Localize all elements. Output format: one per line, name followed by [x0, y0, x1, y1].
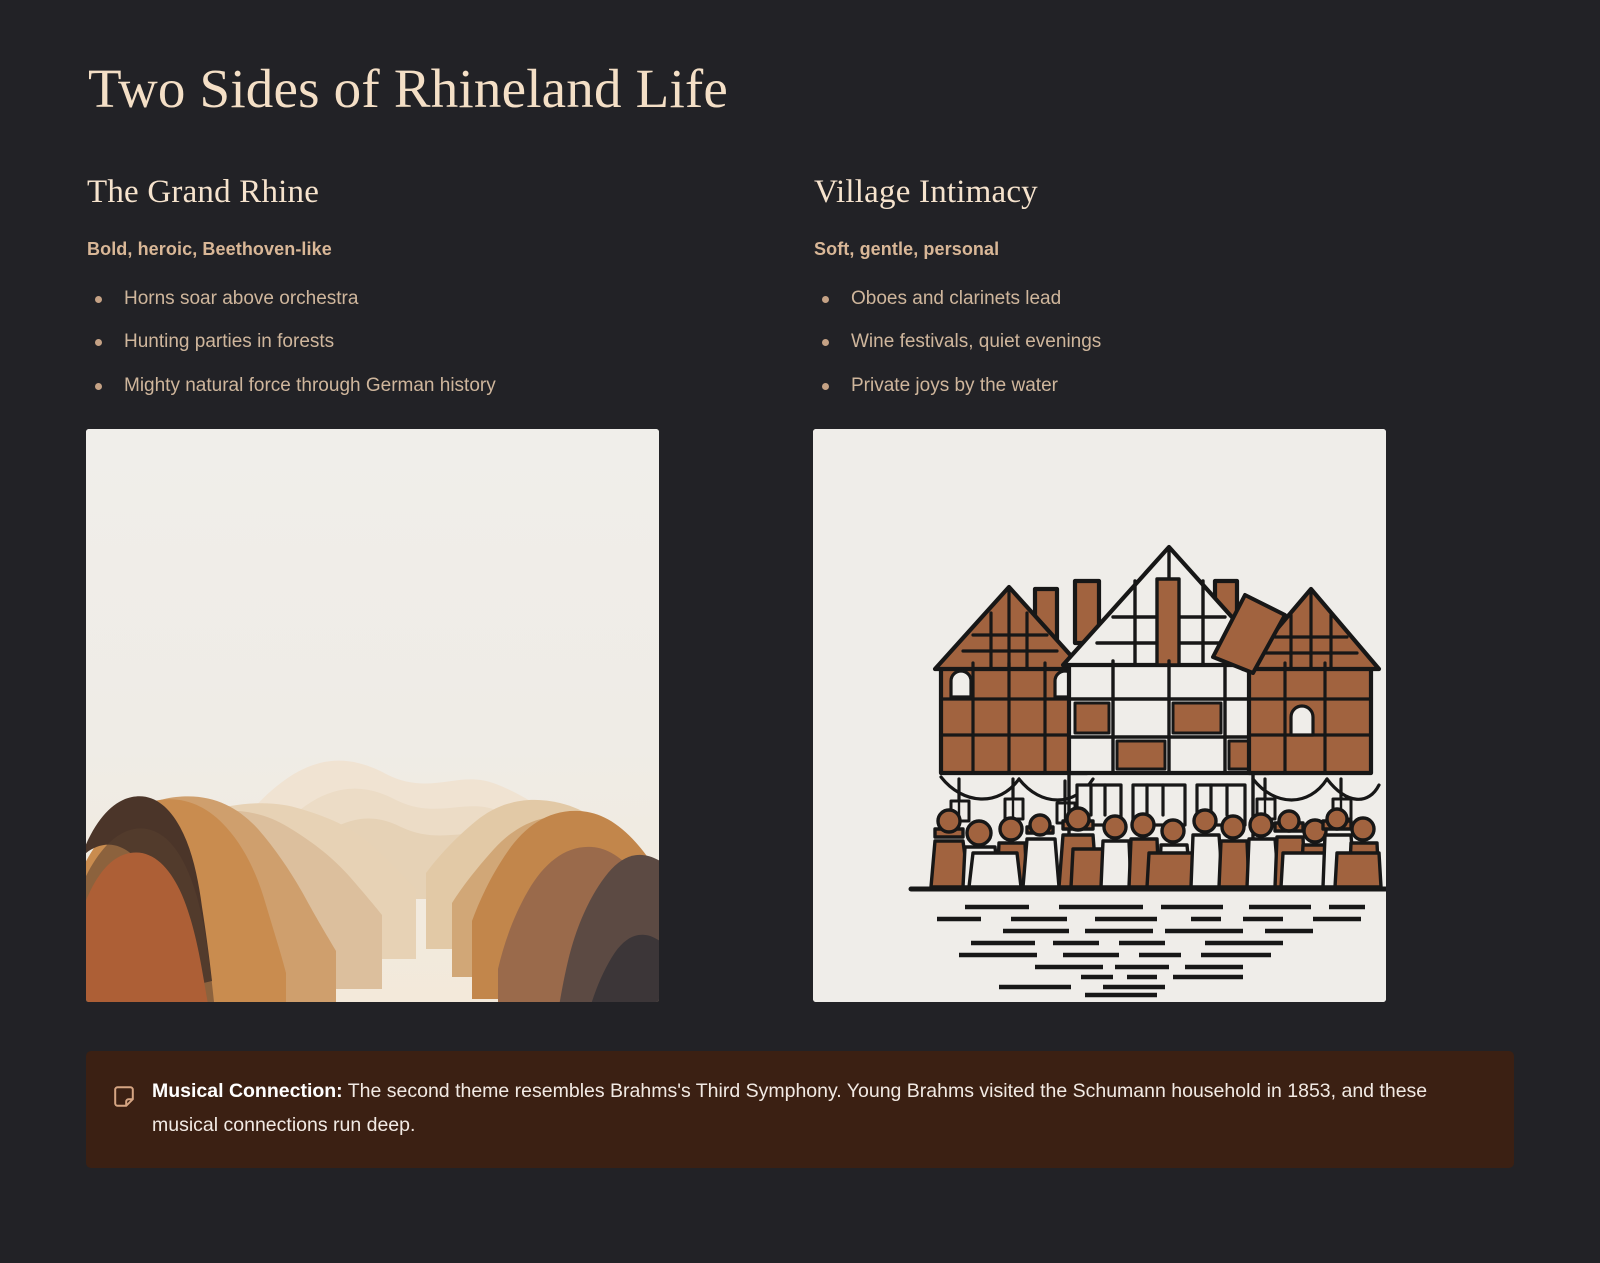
callout-label: Musical Connection: — [152, 1080, 343, 1102]
bullet-list-grand-rhine: Horns soar above orchestra Hunting parti… — [86, 286, 661, 399]
list-item: Private joys by the water — [813, 373, 1388, 399]
list-item-label: Wine festivals, quiet evenings — [851, 331, 1101, 352]
comparison-columns: The Grand Rhine Bold, heroic, Beethoven-… — [86, 174, 1514, 1002]
musical-connection-callout: Musical Connection: The second theme res… — [86, 1051, 1514, 1168]
bullet-dot-icon — [95, 383, 102, 390]
page-title: Two Sides of Rhineland Life — [88, 58, 1514, 120]
column-title-village-intimacy: Village Intimacy — [814, 174, 1388, 211]
bullet-dot-icon — [95, 296, 102, 303]
column-village-intimacy: Village Intimacy Soft, gentle, personal … — [813, 174, 1388, 1002]
list-item-label: Mighty natural force through German hist… — [124, 375, 496, 396]
callout-text: Musical Connection: The second theme res… — [152, 1075, 1484, 1142]
list-item: Wine festivals, quiet evenings — [813, 329, 1388, 355]
list-item-label: Oboes and clarinets lead — [851, 288, 1061, 309]
bullet-dot-icon — [822, 339, 829, 346]
village-wine-festival-illustration — [813, 429, 1386, 1002]
column-grand-rhine: The Grand Rhine Bold, heroic, Beethoven-… — [86, 174, 661, 1002]
column-subtitle-village-intimacy: Soft, gentle, personal — [814, 239, 1388, 260]
bullet-dot-icon — [95, 339, 102, 346]
rhine-river-valley-illustration — [86, 429, 659, 1002]
sticky-note-icon — [112, 1085, 136, 1114]
list-item: Oboes and clarinets lead — [813, 286, 1388, 312]
bullet-dot-icon — [822, 296, 829, 303]
bullet-list-village-intimacy: Oboes and clarinets lead Wine festivals,… — [813, 286, 1388, 399]
column-title-grand-rhine: The Grand Rhine — [87, 174, 661, 211]
list-item-label: Hunting parties in forests — [124, 331, 334, 352]
list-item: Hunting parties in forests — [86, 329, 661, 355]
callout-body: The second theme resembles Brahms's Thir… — [152, 1080, 1427, 1136]
list-item: Horns soar above orchestra — [86, 286, 661, 312]
slide-root: Two Sides of Rhineland Life The Grand Rh… — [0, 0, 1600, 1263]
list-item-label: Private joys by the water — [851, 375, 1058, 396]
column-subtitle-grand-rhine: Bold, heroic, Beethoven-like — [87, 239, 661, 260]
list-item-label: Horns soar above orchestra — [124, 288, 358, 309]
list-item: Mighty natural force through German hist… — [86, 373, 661, 399]
bullet-dot-icon — [822, 383, 829, 390]
